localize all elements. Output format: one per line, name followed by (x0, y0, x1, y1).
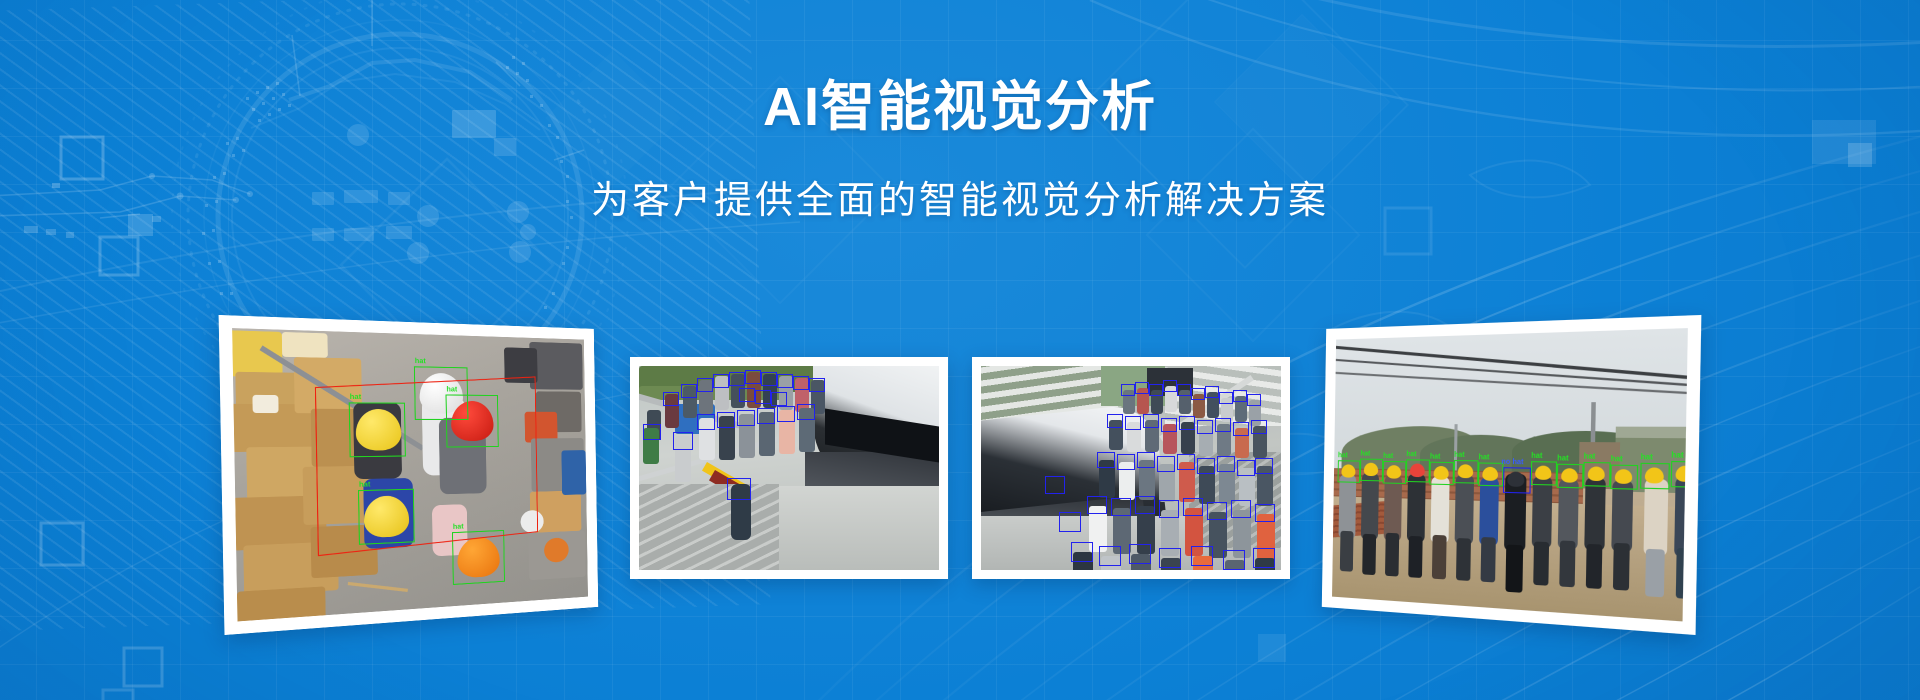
gallery-card-frame (981, 366, 1281, 570)
gallery-card-frame (639, 366, 939, 570)
scene-train-platform-detection (639, 366, 939, 570)
gallery-card-crowd-detection[interactable] (972, 357, 1290, 579)
gallery-card-platform-detection[interactable] (630, 357, 948, 579)
banner-copy: AI智能视觉分析 为客户提供全面的智能视觉分析解决方案 (0, 78, 1920, 223)
image-gallery: hat hat hat hat hat (0, 318, 1920, 618)
gallery-card-frame: hat hat hat hat hat (232, 328, 588, 621)
scene-construction-hardhat-detection: hat hat hat hat hat hat hat no hat (1332, 328, 1688, 621)
hero-banner: AI智能视觉分析 为客户提供全面的智能视觉分析解决方案 (0, 0, 1920, 700)
scene-warehouse-helmet-detection: hat hat hat hat hat (232, 328, 588, 621)
page-subtitle: 为客户提供全面的智能视觉分析解决方案 (0, 181, 1920, 223)
gallery-card-construction-hardhat[interactable]: hat hat hat hat hat hat hat no hat (1322, 315, 1702, 635)
page-title: AI智能视觉分析 (0, 78, 1920, 137)
gallery-card-warehouse-detection[interactable]: hat hat hat hat hat (219, 315, 599, 635)
scene-crowd-counting (981, 366, 1281, 570)
gallery-card-frame: hat hat hat hat hat hat hat no hat (1332, 328, 1688, 621)
